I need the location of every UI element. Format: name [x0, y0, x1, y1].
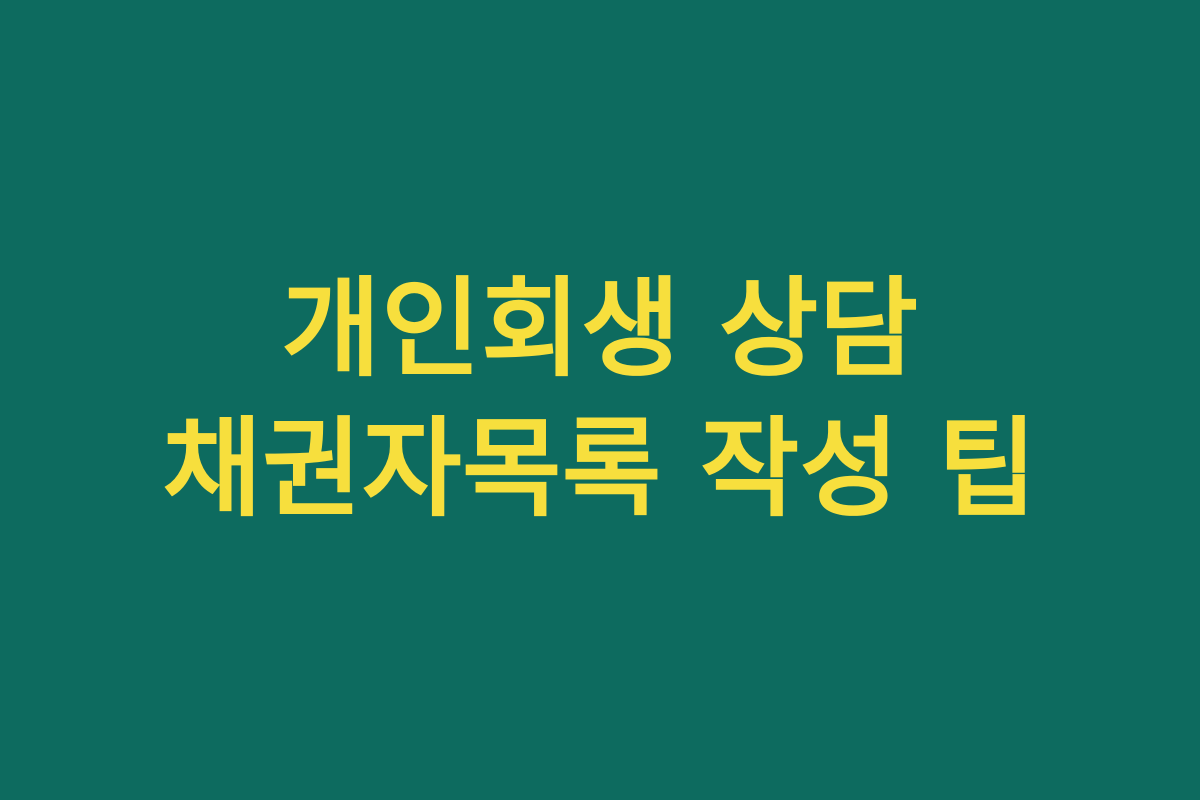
featured-image-card: 개인회생 상담 채권자목록 작성 팁	[0, 0, 1200, 800]
page-title: 개인회생 상담 채권자목록 작성 팁	[90, 260, 1110, 541]
title-block: 개인회생 상담 채권자목록 작성 팁	[90, 260, 1110, 541]
